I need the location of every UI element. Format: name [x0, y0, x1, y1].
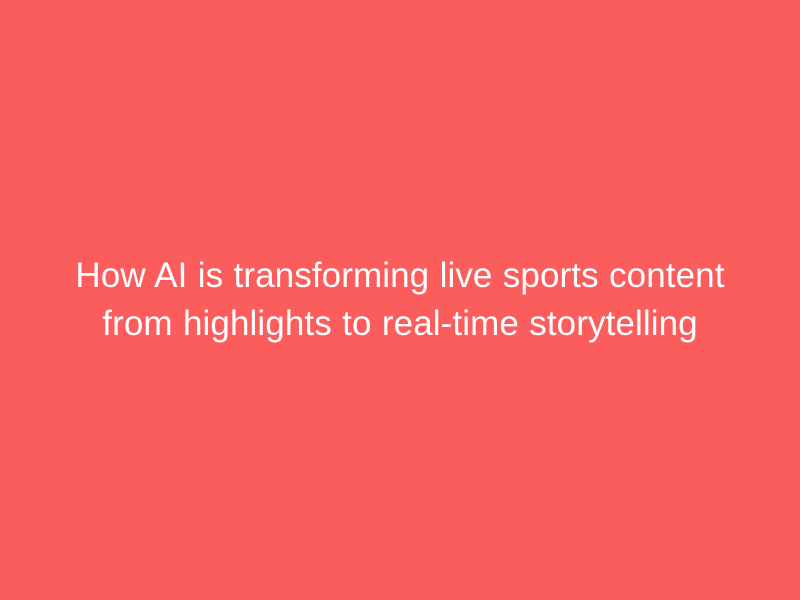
article-hero-card: How AI is transforming live sports conte… [0, 0, 800, 600]
headline-container: How AI is transforming live sports conte… [40, 252, 760, 348]
article-headline: How AI is transforming live sports conte… [50, 252, 750, 348]
